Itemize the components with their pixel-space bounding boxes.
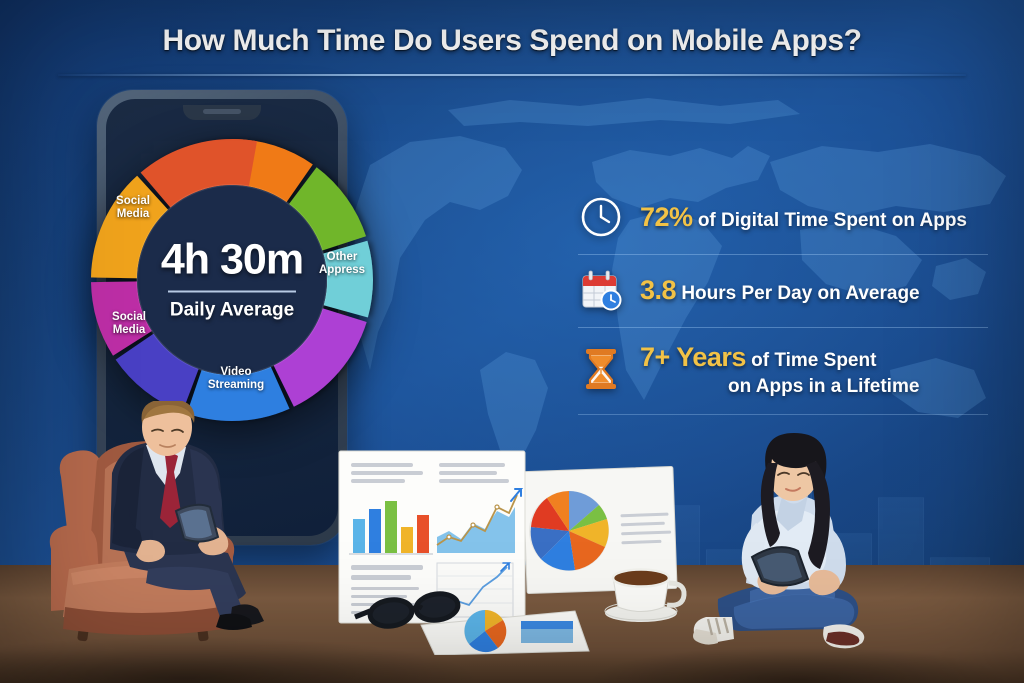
donut-center-label: 4h 30m Daily Average — [142, 239, 322, 322]
calendar-clock-icon — [578, 267, 624, 313]
seated-woman — [678, 431, 908, 661]
donut-center-divider — [168, 291, 296, 293]
title-divider — [58, 74, 966, 76]
desk-documents-group — [325, 445, 695, 655]
stat-row-hours-per-day: 3.8 Hours Per Day on Average — [578, 254, 988, 327]
stats-bottom-divider — [578, 414, 988, 415]
stat-text-hours-per-day: 3.8 Hours Per Day on Average — [640, 273, 920, 308]
donut-center-value: 4h 30m — [142, 239, 322, 282]
page-title: How Much Time Do Users Spend on Mobile A… — [0, 24, 1024, 58]
stat-row-lifetime-years: 7+ Years of Time Spent on Apps in a Life… — [578, 327, 988, 413]
smartphone-speaker — [203, 109, 241, 114]
stat-label-digital-time: of Digital Time Spent on Apps — [698, 210, 967, 231]
infographic-canvas: How Much Time Do Users Spend on Mobile A… — [0, 0, 1024, 683]
stat-highlight-7-years: 7+ Years — [640, 342, 746, 372]
stat-highlight-3-8: 3.8 — [640, 275, 676, 305]
seated-businessman — [60, 401, 275, 631]
donut-center-caption: Daily Average — [142, 300, 322, 322]
donut-chart: 4h 30m Daily Average Social Media Social… — [85, 133, 379, 427]
smartphone-notch — [183, 105, 261, 120]
stat-text-digital-time: 72% of Digital Time Spent on Apps — [640, 200, 967, 235]
stat-label-hours-per-day: Hours Per Day on Average — [681, 283, 919, 304]
clock-icon — [578, 194, 624, 240]
stat-text-lifetime-years: 7+ Years of Time Spent on Apps in a Life… — [640, 340, 919, 399]
hourglass-icon — [578, 346, 624, 392]
stat-highlight-72-percent: 72% — [640, 202, 693, 232]
stat-row-digital-time: 72% of Digital Time Spent on Apps — [578, 182, 988, 254]
stat-label-lifetime-line1: of Time Spent — [751, 350, 876, 371]
stats-panel: 72% of Digital Time Spent on Apps — [578, 182, 988, 413]
stat-label-lifetime-line2: on Apps in a Lifetime — [728, 375, 919, 399]
